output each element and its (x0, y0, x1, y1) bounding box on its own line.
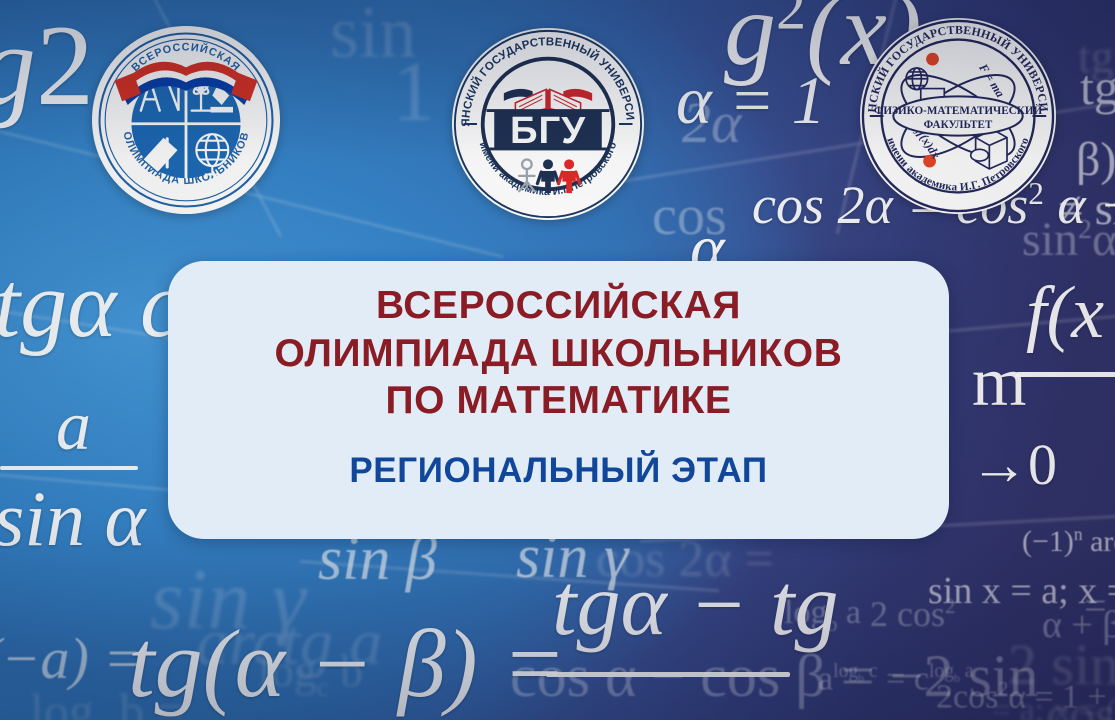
title-card: ВСЕРОССИЙСКАЯ ОЛИМПИАДА ШКОЛЬНИКОВ ПО МА… (168, 261, 949, 539)
subtitle-stage: РЕГИОНАЛЬНЫЙ ЭТАП (349, 451, 767, 491)
title-line-3: ПО МАТЕМАТИКЕ (386, 377, 732, 425)
title-line-2: ОЛИМПИАДА ШКОЛЬНИКОВ (275, 330, 843, 378)
poster-root: sin 1 sin γ arctg a logc b loga b = 2 si… (0, 0, 1115, 720)
title-line-1: ВСЕРОССИЙСКАЯ (376, 282, 741, 330)
